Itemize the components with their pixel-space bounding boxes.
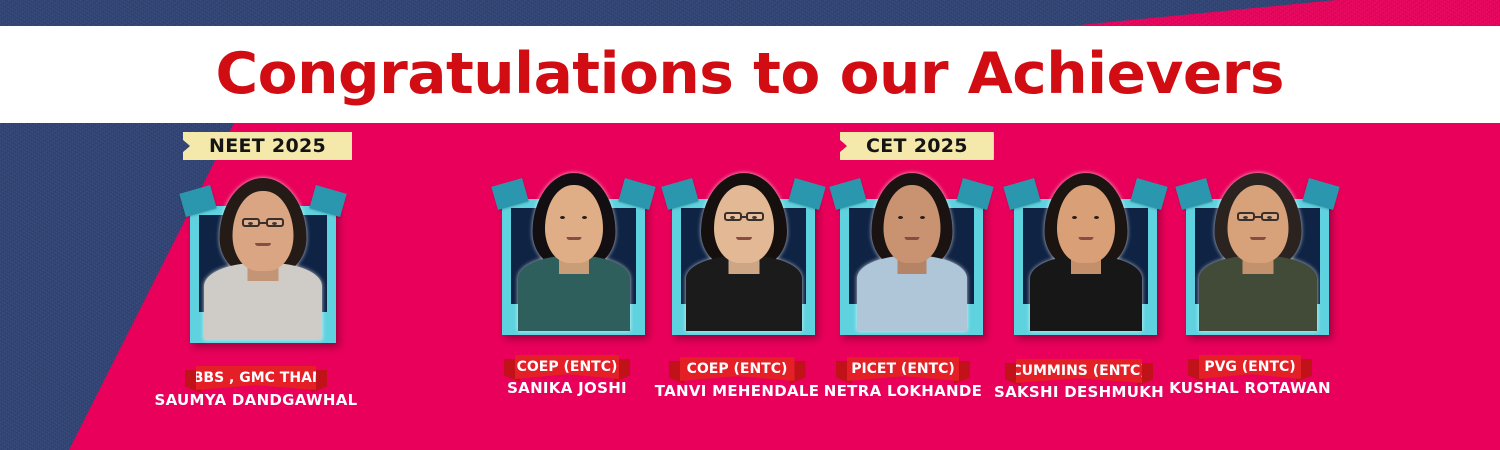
section-badge-neet: NEET 2025: [183, 132, 352, 160]
photo-glasses-icon: [266, 218, 284, 227]
photo-eye: [920, 216, 925, 219]
achiever-name: SAUMYA DANDGAWHAL: [126, 391, 386, 409]
result-ribbon: PVG (ENTC): [1199, 355, 1301, 379]
result-label: MBBS , GMC THANE: [196, 366, 316, 390]
photo-mouth: [1078, 237, 1093, 240]
result-ribbon: COEP (ENTC): [680, 357, 795, 381]
result-label: PICET (ENTC): [847, 357, 959, 381]
photo-glasses-bridge: [1255, 216, 1261, 218]
photo-face: [1057, 185, 1115, 263]
photo-face: [233, 191, 294, 271]
photo-mouth: [566, 237, 581, 240]
title-band: Congratulations to our Achievers: [0, 26, 1500, 123]
photo-glasses-bridge: [260, 222, 266, 224]
top-strip: [0, 0, 1500, 26]
result-label: COEP (ENTC): [680, 357, 795, 381]
achiever-photo: [204, 172, 322, 340]
photo-glasses-bridge: [741, 216, 747, 218]
achiever-photo: [857, 167, 967, 331]
achiever-card: [840, 199, 983, 335]
page-title: Congratulations to our Achievers: [216, 46, 1284, 103]
result-label: COEP (ENTC): [515, 355, 619, 379]
photo-face: [714, 185, 774, 263]
result-ribbon: PICET (ENTC): [847, 357, 959, 381]
achiever-card: [502, 199, 645, 335]
photo-glasses-icon: [1237, 212, 1255, 221]
achiever-card: [672, 199, 815, 335]
photo-eye: [1094, 216, 1099, 219]
section-badge-cet: CET 2025: [840, 132, 994, 160]
photo-face: [1227, 185, 1288, 263]
top-strip-pink-accent: [1070, 0, 1500, 26]
photo-eye: [560, 216, 565, 219]
photo-mouth: [1250, 237, 1266, 240]
result-ribbon: MBBS , GMC THANE: [196, 366, 316, 390]
photo-mouth: [904, 237, 919, 240]
photo-eye: [582, 216, 587, 219]
achiever-card: [1186, 199, 1329, 335]
result-label: PVG (ENTC): [1199, 355, 1301, 379]
achiever-photo: [1030, 167, 1142, 331]
photo-face: [545, 185, 603, 263]
result-ribbon: COEP (ENTC): [515, 355, 619, 379]
photo-mouth: [255, 243, 271, 246]
photo-glasses-icon: [746, 212, 764, 221]
photo-face: [883, 185, 940, 263]
achiever-card: [1014, 199, 1157, 335]
photo-glasses-icon: [242, 218, 260, 227]
achiever-card: [190, 206, 336, 343]
photo-glasses-icon: [724, 212, 742, 221]
photo-glasses-icon: [1261, 212, 1279, 221]
achievers-banner: Congratulations to our Achievers NEET 20…: [0, 0, 1500, 450]
photo-eye: [898, 216, 903, 219]
photo-mouth: [736, 237, 752, 240]
achiever-photo: [1199, 167, 1317, 331]
achiever-name: KUSHAL ROTAWAN: [1120, 379, 1380, 397]
achiever-photo: [686, 167, 802, 331]
achiever-photo: [518, 167, 630, 331]
photo-eye: [1072, 216, 1077, 219]
